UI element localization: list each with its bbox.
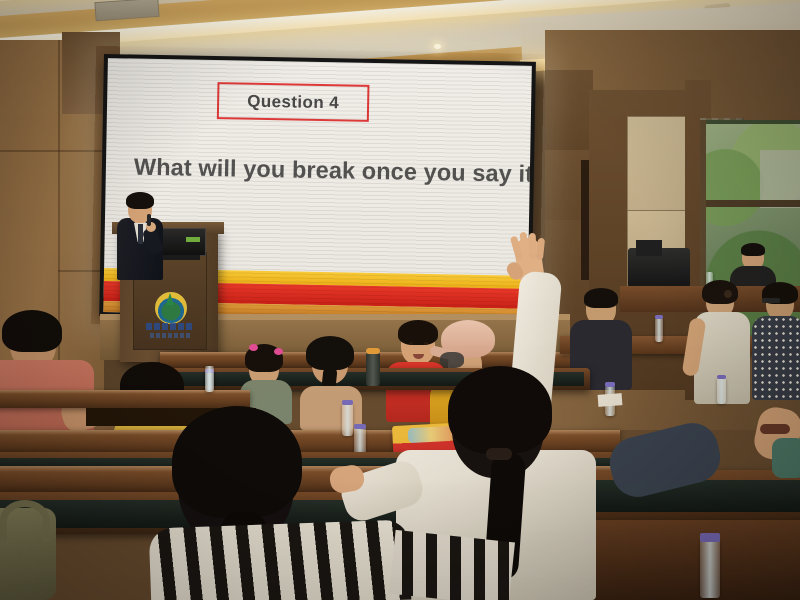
woman-striped-shoulder: [389, 530, 515, 600]
woman-striped-hair: [172, 406, 302, 518]
bottle-cap: [655, 315, 663, 319]
bag-handle: [0, 500, 50, 541]
question-text: What will you break once you say it?: [134, 154, 514, 188]
question-tag-label: Question 4: [219, 84, 368, 120]
bottle-cap: [717, 375, 726, 379]
woman-ponytail-hair: [306, 336, 354, 370]
snack-box-artwork: [408, 426, 455, 443]
name-card: [598, 393, 623, 407]
water-bottle: [205, 366, 214, 392]
bottle-cap: [605, 382, 615, 387]
microphone: [147, 214, 151, 226]
raised-hand-finger-3: [529, 233, 536, 259]
face-mask: [440, 352, 464, 368]
av-monitor: [636, 240, 662, 256]
door-frame: [581, 160, 589, 280]
man-salmon-hair: [2, 310, 62, 352]
eyeglasses-icon: [762, 298, 780, 303]
bottle-cap: [342, 400, 353, 405]
water-bottle: [717, 378, 726, 404]
audience-hair-right-2: [702, 280, 738, 304]
laptop-brand-mark: [186, 237, 200, 242]
pink-hair-tie-right: [274, 348, 283, 355]
girl-hand-raised-hair: [448, 366, 552, 454]
boy-eye-right: [424, 342, 428, 345]
audience-body-right-3: [752, 316, 800, 400]
water-bottle: [700, 540, 720, 598]
podium-org-name: [146, 323, 194, 330]
hair-band: [486, 448, 512, 460]
pink-hair-tie-left: [249, 344, 258, 351]
window-mullion: [706, 200, 800, 207]
bottle-cap: [700, 533, 720, 542]
podium-org-subtitle: [150, 333, 190, 338]
downlight-1: [434, 44, 441, 49]
boy-eye-left: [409, 342, 413, 345]
bottle-cap: [354, 424, 366, 429]
seated-person-top: [772, 438, 800, 478]
thermos-cap: [366, 348, 380, 354]
woman-striped-body: [149, 519, 412, 600]
bracelet: [760, 424, 790, 434]
boy-red-hair: [398, 320, 438, 345]
water-bottle: [655, 318, 663, 342]
question-tag-box: Question 4: [217, 82, 370, 122]
hair-bun: [724, 290, 732, 298]
presenter-hair: [126, 192, 154, 209]
thermos: [366, 352, 380, 386]
audience-hair-right-1: [584, 288, 618, 308]
technician-hair: [741, 243, 765, 256]
water-bottle: [342, 404, 353, 436]
lecture-hall-photo: Question 4 What will you break once you …: [0, 0, 800, 600]
